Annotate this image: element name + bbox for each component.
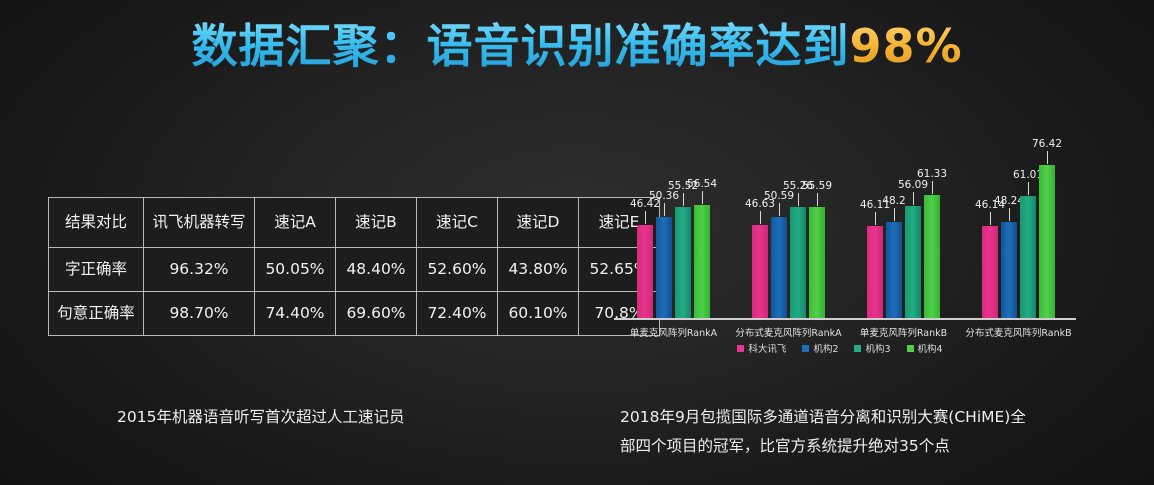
chart-bar: 61.33	[924, 148, 940, 318]
table-cell: 60.10%	[498, 292, 579, 336]
chart-error-bar	[1047, 151, 1048, 164]
table-row: 字正确率 96.32% 50.05% 48.40% 52.60% 43.80% …	[49, 248, 660, 292]
results-comparison-table: 结果对比 讯飞机器转写 速记A 速记B 速记C 速记D 速记E 字正确率 96.…	[48, 197, 660, 336]
chart-bar: 55.52	[675, 148, 691, 318]
table-header-row: 结果对比 讯飞机器转写 速记A 速记B 速记C 速记D 速记E	[49, 198, 660, 248]
table-header-cell: 速记C	[417, 198, 498, 248]
table-cell: 74.40%	[255, 292, 336, 336]
table-row-label: 字正确率	[49, 248, 144, 292]
accuracy-bar-chart: 46.4250.3655.5256.5446.6350.5955.2655.59…	[600, 145, 1080, 365]
legend-label: 机构3	[865, 341, 890, 355]
chart-bar-group: 46.1448.2461.0176.42	[980, 148, 1058, 318]
chart-bar-rect	[867, 226, 883, 318]
chart-baseline-axis	[614, 318, 1076, 320]
chart-value-label: 56.54	[687, 178, 717, 190]
chart-bar-rect	[675, 207, 691, 318]
chart-bar-rect	[752, 225, 768, 318]
chart-bar-rect	[809, 207, 825, 318]
chart-bar: 46.42	[637, 148, 653, 318]
slide-canvas: 数据汇聚：语音识别准确率达到98% 结果对比 讯飞机器转写 速记A 速记B 速记…	[0, 0, 1154, 485]
legend-label: 机构2	[813, 341, 838, 355]
chart-bar: 46.63	[752, 148, 768, 318]
chart-error-bar	[932, 181, 933, 194]
chart-category-label: 分布式麦克风阵列RankA	[735, 325, 841, 339]
chart-bar-rect	[924, 195, 940, 318]
chart-value-label: 61.33	[917, 168, 947, 180]
chart-error-bar	[779, 203, 780, 216]
chart-bar-rect	[790, 207, 806, 318]
chart-value-label: 48.2	[882, 195, 905, 207]
legend-swatch-icon	[737, 345, 744, 352]
chart-bar: 50.59	[771, 148, 787, 318]
chart-bar: 76.42	[1039, 148, 1055, 318]
chart-bar: 55.59	[809, 148, 825, 318]
chart-error-bar	[645, 211, 646, 224]
table-header-cell: 讯飞机器转写	[144, 198, 255, 248]
chart-bar-rect	[905, 206, 921, 318]
table-cell: 52.60%	[417, 248, 498, 292]
table-cell: 50.05%	[255, 248, 336, 292]
table-row: 句意正确率 98.70% 74.40% 69.60% 72.40% 60.10%…	[49, 292, 660, 336]
chart-legend: 科大讯飞机构2机构3机构4	[600, 341, 1080, 355]
chart-legend-item[interactable]: 机构2	[802, 341, 838, 355]
chart-bar: 46.14	[982, 148, 998, 318]
chart-error-bar	[817, 193, 818, 206]
chart-bar: 50.36	[656, 148, 672, 318]
table-header-cell: 速记D	[498, 198, 579, 248]
chart-error-bar	[683, 193, 684, 206]
table-cell: 48.40%	[336, 248, 417, 292]
chart-bar-rect	[637, 225, 653, 318]
chart-error-bar	[664, 203, 665, 216]
chart-bar-group: 46.6350.5955.2655.59	[750, 148, 828, 318]
table-cell: 43.80%	[498, 248, 579, 292]
chart-category-label: 单麦克风阵列RankB	[860, 325, 947, 339]
page-title: 数据汇聚：语音识别准确率达到98%	[0, 22, 1154, 70]
chart-error-bar	[760, 211, 761, 224]
chart-plot-area: 46.4250.3655.5256.5446.6350.5955.2655.59…	[600, 145, 1080, 321]
chart-bar-rect	[1039, 165, 1055, 318]
chart-error-bar	[798, 193, 799, 206]
caption-right: 2018年9月包揽国际多通道语音分离和识别大赛(CHiME)全 部四个项目的冠军…	[620, 403, 1132, 460]
chart-error-bar	[1009, 208, 1010, 221]
chart-bar-group: 46.1148.256.0961.33	[865, 148, 943, 318]
table-cell: 69.60%	[336, 292, 417, 336]
table-cell: 72.40%	[417, 292, 498, 336]
table-cell: 96.32%	[144, 248, 255, 292]
chart-error-bar	[875, 212, 876, 225]
legend-swatch-icon	[854, 345, 861, 352]
legend-swatch-icon	[802, 345, 809, 352]
chart-category-label: 单麦克风阵列RankA	[630, 325, 717, 339]
chart-error-bar	[1028, 182, 1029, 195]
title-main-text: 数据汇聚：语音识别准确率达到	[191, 19, 849, 73]
table-row-label: 句意正确率	[49, 292, 144, 336]
chart-error-bar	[702, 191, 703, 204]
chart-bar: 61.01	[1020, 148, 1036, 318]
title-accent-text: 98%	[849, 19, 962, 73]
chart-bar-group: 46.4250.3655.5256.54	[635, 148, 713, 318]
chart-value-label: 55.59	[802, 180, 832, 192]
chart-category-label: 分布式麦克风阵列RankB	[965, 325, 1071, 339]
legend-swatch-icon	[907, 345, 914, 352]
chart-bar-rect	[982, 226, 998, 318]
caption-right-line2: 部四个项目的冠军，比官方系统提升绝对35个点	[620, 432, 1132, 461]
chart-bar: 46.11	[867, 148, 883, 318]
table-cell: 98.70%	[144, 292, 255, 336]
table-header-cell: 速记B	[336, 198, 417, 248]
chart-bar-rect	[886, 222, 902, 318]
chart-error-bar	[990, 212, 991, 225]
legend-label: 科大讯飞	[748, 341, 786, 355]
chart-bar-rect	[1020, 196, 1036, 318]
chart-bar: 48.2	[886, 148, 902, 318]
chart-error-bar	[894, 208, 895, 221]
table-header-cell: 速记A	[255, 198, 336, 248]
table-header-cell: 结果对比	[49, 198, 144, 248]
chart-bar-rect	[771, 217, 787, 318]
chart-error-bar	[913, 192, 914, 205]
chart-legend-item[interactable]: 科大讯飞	[737, 341, 786, 355]
chart-legend-item[interactable]: 机构3	[854, 341, 890, 355]
chart-bar: 55.26	[790, 148, 806, 318]
chart-bar-rect	[1001, 222, 1017, 318]
chart-value-label: 76.42	[1032, 138, 1062, 150]
legend-label: 机构4	[918, 341, 943, 355]
caption-left: 2015年机器语音听写首次超过人工速记员	[117, 403, 404, 432]
chart-bar-rect	[656, 217, 672, 318]
caption-right-line1: 2018年9月包揽国际多通道语音分离和识别大赛(CHiME)全	[620, 403, 1132, 432]
chart-legend-item[interactable]: 机构4	[907, 341, 943, 355]
chart-bar: 56.54	[694, 148, 710, 318]
chart-bar-rect	[694, 205, 710, 318]
